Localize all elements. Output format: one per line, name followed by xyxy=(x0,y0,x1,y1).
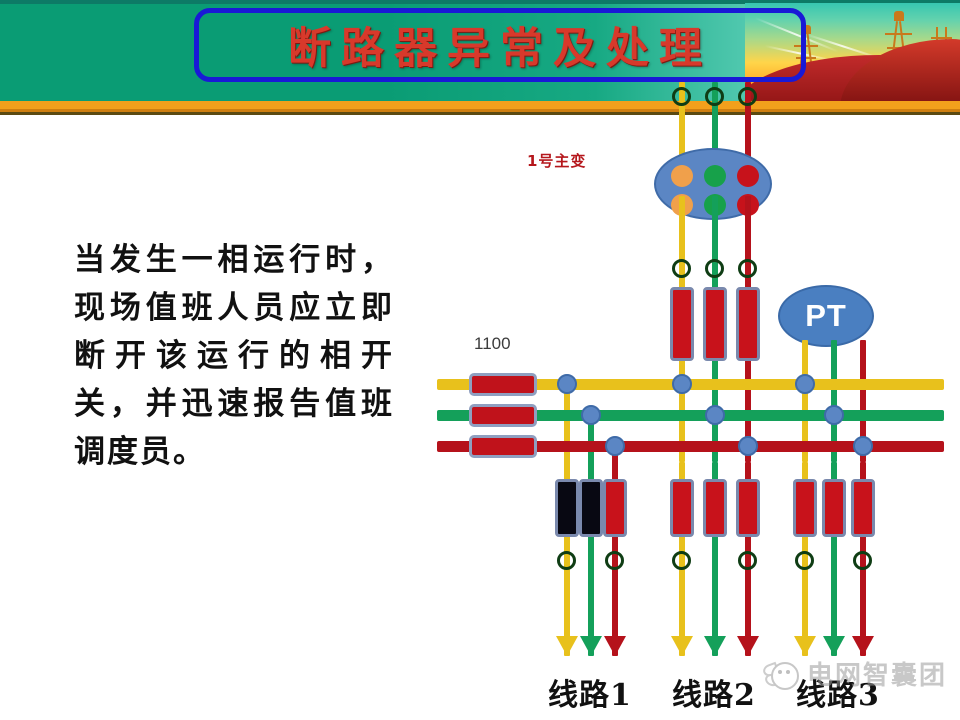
slide-canvas: 断路器异常及处理 当发生一相运行时，现场值班人员应立即断开该运行的相开关，并迅速… xyxy=(0,0,960,720)
disconnector-icon xyxy=(738,259,757,278)
feeder3-breaker-yellow[interactable] xyxy=(793,479,817,537)
feeder3-arrow-red xyxy=(852,636,874,656)
disconnector-icon xyxy=(738,551,757,570)
incomer-breaker-yellow[interactable] xyxy=(670,287,694,361)
disconnector-icon xyxy=(795,551,814,570)
disconnector-icon xyxy=(738,87,757,106)
bus-node xyxy=(853,436,873,456)
disconnector-icon xyxy=(705,87,724,106)
feeder2-arrow-red xyxy=(737,636,759,656)
transformer-terminal-red xyxy=(737,165,759,187)
feeder1-breaker-yellow[interactable] xyxy=(555,479,579,537)
feeder2-arrow-yellow xyxy=(671,636,693,656)
bus-node xyxy=(738,436,758,456)
wm-eye xyxy=(778,670,782,674)
feeder1-arrow-red xyxy=(604,636,626,656)
disconnector-icon xyxy=(672,551,691,570)
bus-node xyxy=(705,405,725,425)
feeder2-breaker-green[interactable] xyxy=(703,479,727,537)
feeder-label-2: 线路2 xyxy=(672,670,756,714)
feeder1-breaker-green[interactable] xyxy=(579,479,603,537)
bus-breaker-green[interactable] xyxy=(469,404,537,427)
feeder3-breaker-green[interactable] xyxy=(822,479,846,537)
bus-breaker-red[interactable] xyxy=(469,435,537,458)
watermark-logo-icon xyxy=(763,661,801,687)
single-line-diagram: 1号主变 PT 1100 xyxy=(0,0,960,720)
bus-node xyxy=(672,374,692,394)
feeder2-arrow-green xyxy=(704,636,726,656)
disconnector-icon xyxy=(672,259,691,278)
watermark: 电网智囊团 xyxy=(763,655,947,692)
feeder1-arrow-yellow xyxy=(556,636,578,656)
disconnector-icon xyxy=(705,259,724,278)
bus-node xyxy=(605,436,625,456)
wm-eye xyxy=(786,670,790,674)
incomer-breaker-red[interactable] xyxy=(736,287,760,361)
wm-face xyxy=(771,662,799,690)
feeder1-breaker-red[interactable] xyxy=(603,479,627,537)
transformer-label: 1号主变 xyxy=(527,150,586,171)
feeder3-arrow-green xyxy=(823,636,845,656)
disconnector-icon xyxy=(853,551,872,570)
bus-node xyxy=(581,405,601,425)
feeder1-arrow-green xyxy=(580,636,602,656)
pt-label: PT xyxy=(805,298,847,334)
busbar-label: 1100 xyxy=(474,334,511,354)
bus-node xyxy=(795,374,815,394)
watermark-text: 电网智囊团 xyxy=(807,655,947,692)
incomer-breaker-green[interactable] xyxy=(703,287,727,361)
bus-node xyxy=(824,405,844,425)
feeder3-arrow-yellow xyxy=(794,636,816,656)
feeder3-breaker-red[interactable] xyxy=(851,479,875,537)
bus-node xyxy=(557,374,577,394)
disconnector-icon xyxy=(672,87,691,106)
disconnector-icon xyxy=(605,551,624,570)
bus-breaker-yellow[interactable] xyxy=(469,373,537,396)
feeder2-breaker-red[interactable] xyxy=(736,479,760,537)
feeder2-breaker-yellow[interactable] xyxy=(670,479,694,537)
disconnector-icon xyxy=(557,551,576,570)
transformer-terminal-yellow xyxy=(671,165,693,187)
transformer-terminal-green xyxy=(704,165,726,187)
feeder-label-1: 线路1 xyxy=(548,670,632,714)
pt-device: PT xyxy=(778,285,874,347)
